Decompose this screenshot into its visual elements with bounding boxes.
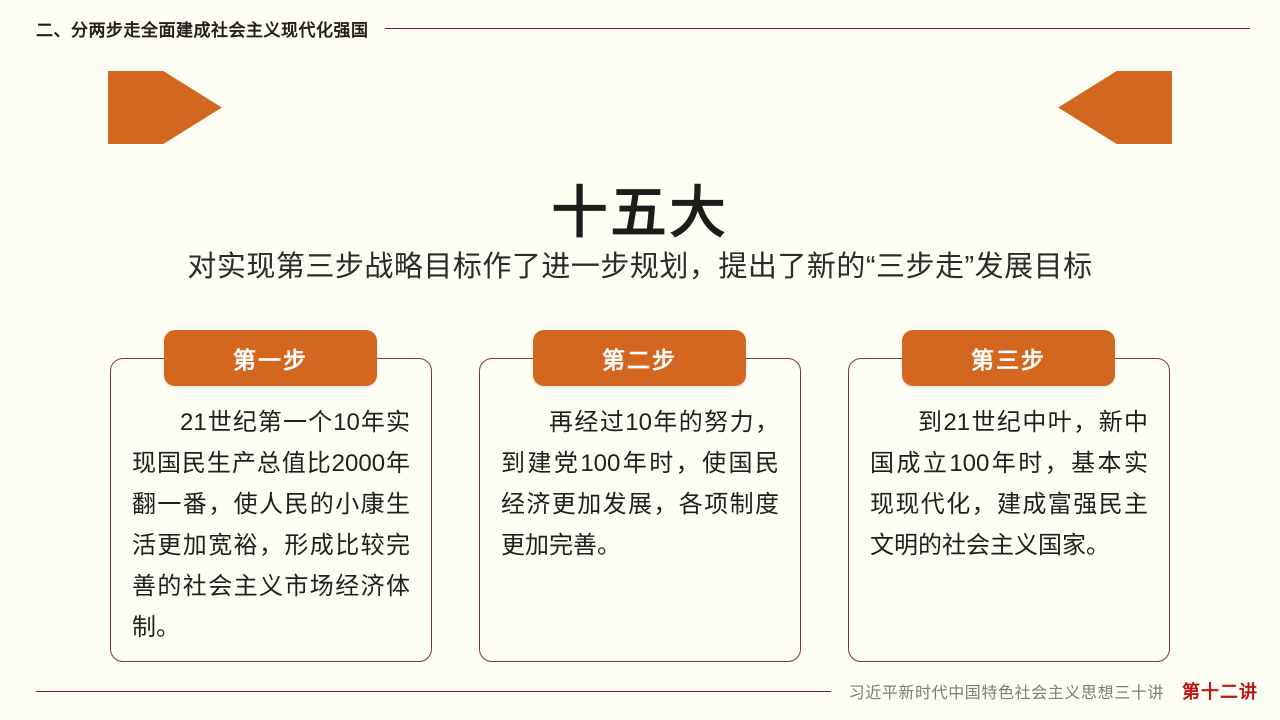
step-tab-label-3: 第三步 — [971, 341, 1046, 375]
footer-lecture-badge: 第十二讲 — [1182, 678, 1258, 704]
slide-footer: 习近平新时代中国特色社会主义思想三十讲 第十二讲 — [0, 678, 1280, 704]
step-tab-label-2: 第二步 — [602, 341, 677, 375]
header-divider-line — [385, 28, 1251, 29]
slide-header: 二、分两步走全面建成社会主义现代化强国 — [0, 14, 1280, 42]
footer-divider-line — [36, 691, 831, 692]
ribbon-banner: ★ 中国现代化建设分阶段、有步骤地推进 ★ — [108, 71, 1172, 144]
star-icon-right: ★ — [942, 91, 969, 121]
step-tab-2: 第二步 — [533, 330, 746, 386]
steps-container: 第一步 第二步 第三步 21世纪第一个10年实现国民生产总值比2000年翻一番，… — [110, 330, 1170, 662]
section-heading: 二、分两步走全面建成社会主义现代化强国 — [36, 16, 369, 41]
page-title: 十五大 — [0, 168, 1280, 249]
step-body-1: 21世纪第一个10年实现国民生产总值比2000年翻一番，使人民的小康生活更加宽裕… — [132, 402, 410, 648]
star-icon-left: ★ — [311, 91, 338, 121]
step-tab-3: 第三步 — [902, 330, 1115, 386]
step-body-3: 到21世纪中叶，新中国成立100年时，基本实现现代化，建成富强民主文明的社会主义… — [870, 402, 1148, 566]
banner-title: 中国现代化建设分阶段、有步骤地推进 — [364, 85, 917, 130]
step-body-2: 再经过10年的努力，到建党100年时，使国民经济更加发展，各项制度更加完善。 — [501, 402, 779, 566]
footer-source-text: 习近平新时代中国特色社会主义思想三十讲 — [849, 679, 1164, 703]
step-tab-1: 第一步 — [164, 330, 377, 386]
step-tab-label-1: 第一步 — [233, 341, 308, 375]
ribbon-shape: ★ 中国现代化建设分阶段、有步骤地推进 ★ — [108, 71, 1172, 144]
page-subtitle: 对实现第三步战略目标作了进一步规划，提出了新的“三步走”发展目标 — [0, 243, 1280, 285]
